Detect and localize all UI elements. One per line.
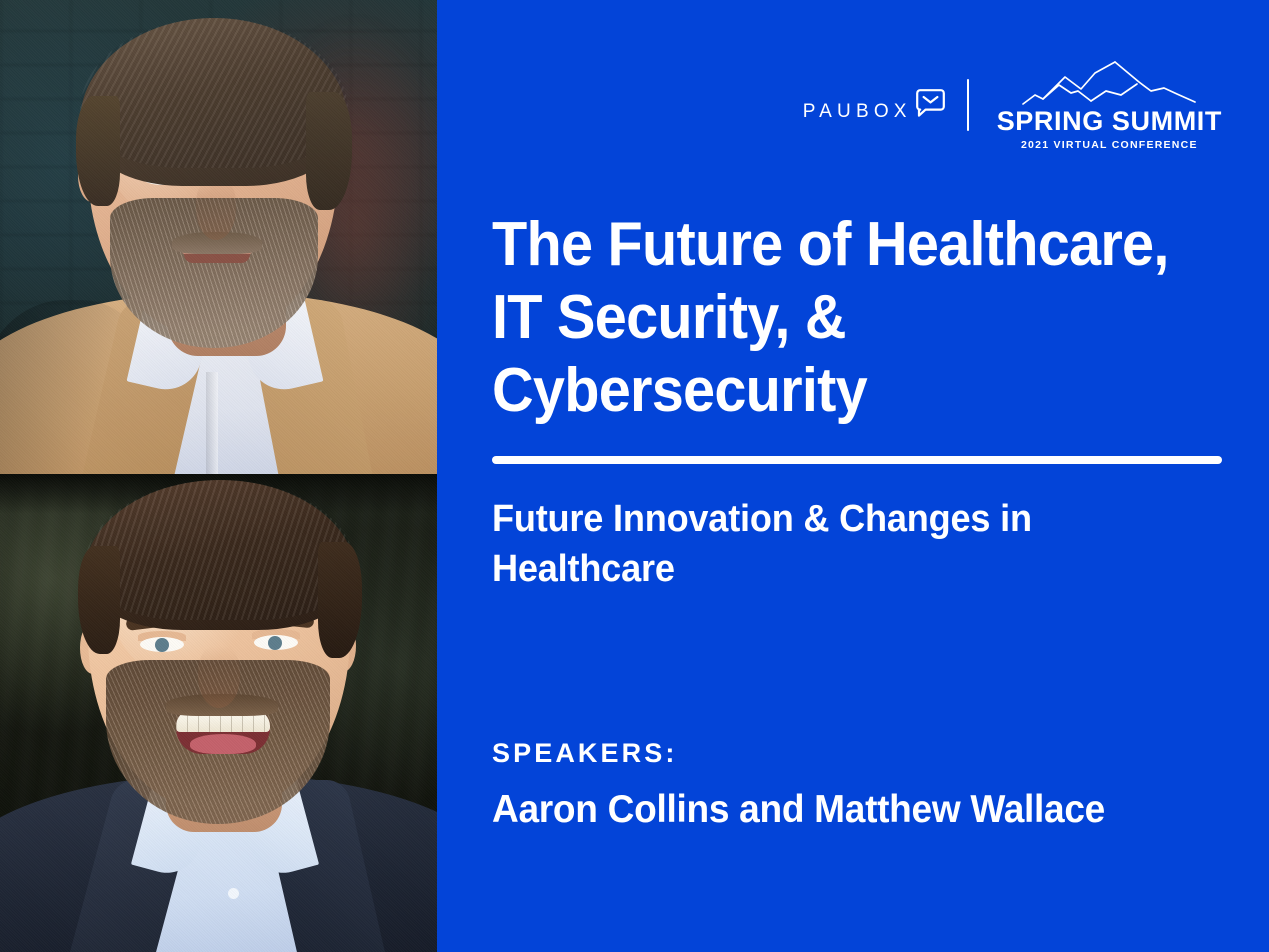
paubox-logo: PAUBOX xyxy=(803,89,945,121)
content-panel: PAUBOX SPRI xyxy=(437,0,1269,952)
paubox-wordmark: PAUBOX xyxy=(803,102,912,121)
pupil-right xyxy=(268,636,282,650)
mouth xyxy=(184,254,250,263)
hair-side-right xyxy=(306,92,352,210)
nose xyxy=(196,178,236,240)
speaker-photo-top xyxy=(0,0,437,474)
brand-lockup: PAUBOX SPRI xyxy=(803,60,1222,151)
vertical-divider xyxy=(967,79,969,131)
speakers-names: Aaron Collins and Matthew Wallace xyxy=(492,786,1195,834)
speakers-label: SPEAKERS: xyxy=(492,740,677,767)
shirt-placket xyxy=(206,372,218,474)
hair-side-left xyxy=(78,546,120,654)
smiling-mouth xyxy=(176,710,270,754)
hair-side-left xyxy=(76,96,120,206)
pupil-left xyxy=(155,638,169,652)
shirt-button xyxy=(228,888,239,899)
mountain-peaks-icon xyxy=(1021,60,1197,106)
slide-subtitle: Future Innovation & Changes in Healthcar… xyxy=(492,494,1176,594)
presentation-slide: PAUBOX SPRI xyxy=(0,0,1269,952)
summit-subtitle: 2021 VIRTUAL CONFERENCE xyxy=(1021,140,1198,151)
speaker-photo-bottom xyxy=(0,474,437,952)
slide-title: The Future of Healthcare, IT Security, &… xyxy=(492,208,1180,427)
summit-title: SPRING SUMMIT xyxy=(997,108,1222,135)
envelope-message-check-icon xyxy=(916,89,945,117)
speaker-photo-column xyxy=(0,0,437,952)
nose xyxy=(198,646,240,708)
tongue xyxy=(190,734,256,754)
title-divider-rule xyxy=(492,456,1222,464)
spring-summit-logo: SPRING SUMMIT 2021 VIRTUAL CONFERENCE xyxy=(997,60,1222,151)
